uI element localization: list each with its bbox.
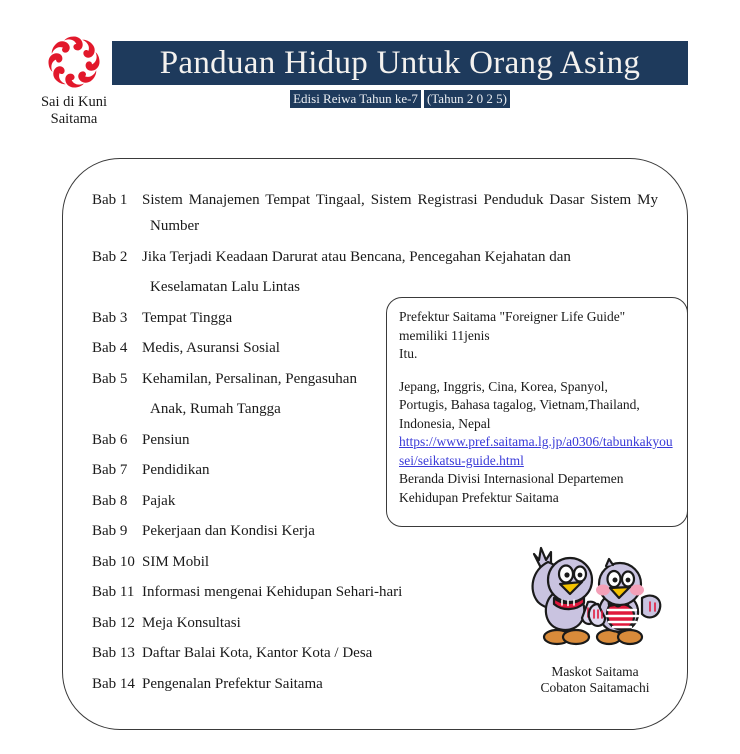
chapter-2-continuation: Keselamatan Lalu Lintas — [150, 277, 682, 297]
chapter-number: Bab 6 — [92, 430, 142, 450]
info-line-3: Itu. — [399, 345, 675, 364]
info-box: Prefektur Saitama "Foreigner Life Guide"… — [386, 297, 688, 527]
mascot-caption: Maskot Saitama Cobaton Saitamachi — [505, 664, 685, 696]
chapter-title: Daftar Balai Kota, Kantor Kota / Desa — [142, 643, 372, 663]
subtitle-row: Edisi Reiwa Tahun ke-7 (Tahun 2 0 2 5) — [112, 90, 688, 108]
chapter-title: Pajak — [142, 491, 175, 511]
page-header: Sai di Kuni Saitama Panduan Hidup Untuk … — [0, 0, 740, 140]
info-spacer — [399, 364, 675, 378]
chapter-number: Bab 8 — [92, 491, 142, 511]
chapter-title: Pengenalan Prefektur Saitama — [142, 674, 323, 694]
languages-line-2: Portugis, Bahasa tagalog, Vietnam,Thaila… — [399, 396, 675, 415]
subtitle-year: (Tahun 2 0 2 5) — [424, 90, 510, 108]
guide-url-line1: https://www.pref.saitama.lg.jp/a0306/tab… — [399, 434, 640, 449]
chapter-number: Bab 9 — [92, 521, 142, 541]
chapter-title: Pensiun — [142, 430, 190, 450]
mascot-block: Maskot Saitama Cobaton Saitamachi — [505, 540, 685, 712]
chapter-1-continuation: Number — [150, 216, 682, 236]
chapter-number: Bab 4 — [92, 338, 142, 358]
mascot-caption-line2: Cobaton Saitamachi — [505, 680, 685, 696]
info-line-2: memiliki 11jenis — [399, 327, 675, 346]
chapter-title: Kehamilan, Persalinan, Pengasuhan — [142, 369, 357, 389]
chapter-title: Medis, Asuransi Sosial — [142, 338, 280, 358]
chapter-title: Sistem Manajemen Tempat Tingaal, Sistem … — [142, 190, 658, 210]
chapter-number: Bab 7 — [92, 460, 142, 480]
chapter-title: Jika Terjadi Keadaan Darurat atau Bencan… — [142, 247, 571, 267]
saitama-prefecture-logo-icon — [45, 33, 103, 91]
chapter-title: Tempat Tingga — [142, 308, 232, 328]
chapter-title: Meja Konsultasi — [142, 613, 241, 633]
guidebook-cover-page: Sai di Kuni Saitama Panduan Hidup Untuk … — [0, 0, 740, 754]
subtitle-edition: Edisi Reiwa Tahun ke-7 — [290, 90, 421, 108]
guide-url-link[interactable]: https://www.pref.saitama.lg.jp/a0306/tab… — [399, 433, 675, 470]
chapter-number: Bab 11 — [92, 582, 142, 602]
info-footer-line-2: Kehidupan Prefektur Saitama — [399, 489, 675, 508]
chapter-number: Bab 10 — [92, 552, 142, 572]
chapter-title: Informasi mengenai Kehidupan Sehari-hari — [142, 582, 402, 602]
chapter-title: Pekerjaan dan Kondisi Kerja — [142, 521, 315, 541]
chapter-number: Bab 3 — [92, 308, 142, 328]
chapter-number: Bab 13 — [92, 643, 142, 663]
chapter-number: Bab 12 — [92, 613, 142, 633]
page-title: Panduan Hidup Untuk Orang Asing — [160, 46, 640, 80]
chapter-row-2[interactable]: Bab 2 Jika Terjadi Keadaan Darurat atau … — [92, 247, 682, 267]
info-footer-line-1: Beranda Divisi Internasional Departemen — [399, 470, 675, 489]
chapter-title: SIM Mobil — [142, 552, 209, 572]
two-pigeon-mascots-icon — [510, 540, 680, 662]
languages-line-3: Indonesia, Nepal — [399, 415, 675, 434]
mascot-caption-line1: Maskot Saitama — [505, 664, 685, 680]
info-line-1: Prefektur Saitama "Foreigner Life Guide" — [399, 308, 675, 327]
languages-line-1: Jepang, Inggris, Cina, Korea, Spanyol, — [399, 378, 675, 397]
chapter-number: Bab 1 — [92, 190, 142, 210]
chapter-title: Pendidikan — [142, 460, 210, 480]
chapter-number: Bab 5 — [92, 369, 142, 389]
chapter-number: Bab 14 — [92, 674, 142, 694]
logo-caption-line2: Saitama — [18, 111, 130, 128]
title-banner: Panduan Hidup Untuk Orang Asing — [112, 41, 688, 85]
chapter-number: Bab 2 — [92, 247, 142, 267]
chapter-row-1[interactable]: Bab 1 Sistem Manajemen Tempat Tingaal, S… — [92, 190, 658, 210]
